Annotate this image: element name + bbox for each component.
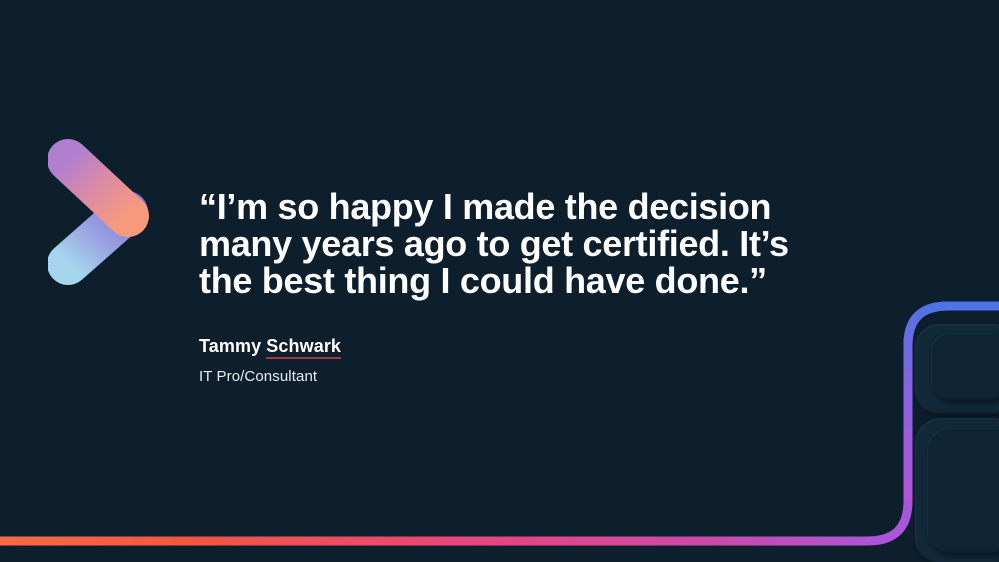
person-name-first: Tammy <box>199 336 266 356</box>
chevron-logo <box>48 136 158 286</box>
person-name-last: Schwark <box>266 336 341 359</box>
person-role: IT Pro/Consultant <box>199 367 839 386</box>
person-name: Tammy Schwark <box>199 335 839 357</box>
panel-shape-1-inner <box>931 333 999 401</box>
quote-text: “I’m so happy I made the decision many y… <box>199 188 839 299</box>
decorative-panels <box>889 300 999 562</box>
testimonial-slide: “I’m so happy I made the decision many y… <box>0 0 999 562</box>
testimonial-content: “I’m so happy I made the decision many y… <box>199 188 839 386</box>
attribution-block: Tammy Schwark IT Pro/Consultant <box>199 335 839 386</box>
panel-shape-2-inner <box>927 428 999 554</box>
